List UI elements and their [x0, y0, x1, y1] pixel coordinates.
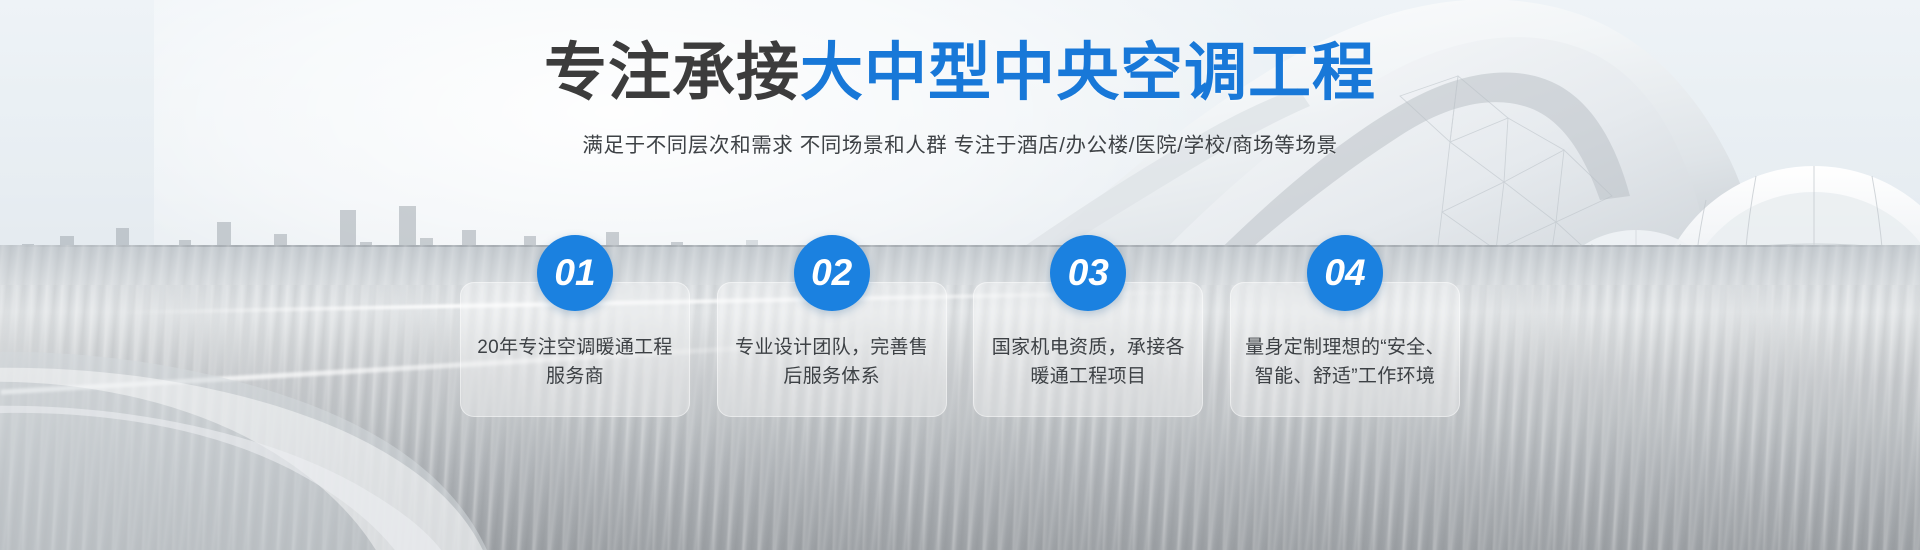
feature-card-03[interactable]: 03 国家机电资质，承接各暖通工程项目	[973, 282, 1203, 417]
feature-card-01[interactable]: 01 20年专注空调暖通工程服务商	[460, 282, 690, 417]
card-number-badge-01: 01	[537, 235, 613, 311]
feature-card-04[interactable]: 04 量身定制理想的“安全、智能、舒适”工作环境	[1230, 282, 1460, 417]
headline-dark-text: 专注承接	[544, 38, 800, 108]
card-number-04: 04	[1324, 252, 1365, 294]
card-number-03: 03	[1068, 252, 1109, 294]
card-text-03: 国家机电资质，承接各暖通工程项目	[987, 334, 1189, 392]
subtitle: 满足于不同层次和需求 不同场景和人群 专注于酒店/办公楼/医院/学校/商场等场景	[0, 128, 1920, 158]
card-number-02: 02	[811, 252, 852, 294]
hero-banner: 专注承接大中型中央空调工程 满足于不同层次和需求 不同场景和人群 专注于酒店/办…	[0, 0, 1920, 550]
card-number-badge-03: 03	[1050, 235, 1126, 311]
card-number-badge-04: 04	[1307, 235, 1383, 311]
headline: 专注承接大中型中央空调工程	[0, 42, 1920, 105]
card-text-01: 20年专注空调暖通工程服务商	[474, 334, 676, 392]
headline-blue-text: 大中型中央空调工程	[800, 38, 1376, 108]
card-number-badge-02: 02	[794, 235, 870, 311]
card-number-01: 01	[554, 252, 595, 294]
card-text-04: 量身定制理想的“安全、智能、舒适”工作环境	[1244, 334, 1446, 392]
feature-card-02[interactable]: 02 专业设计团队，完善售后服务体系	[717, 282, 947, 417]
feature-card-list: 01 20年专注空调暖通工程服务商 02 专业设计团队，完善售后服务体系 03 …	[460, 282, 1460, 417]
card-text-02: 专业设计团队，完善售后服务体系	[731, 334, 933, 392]
